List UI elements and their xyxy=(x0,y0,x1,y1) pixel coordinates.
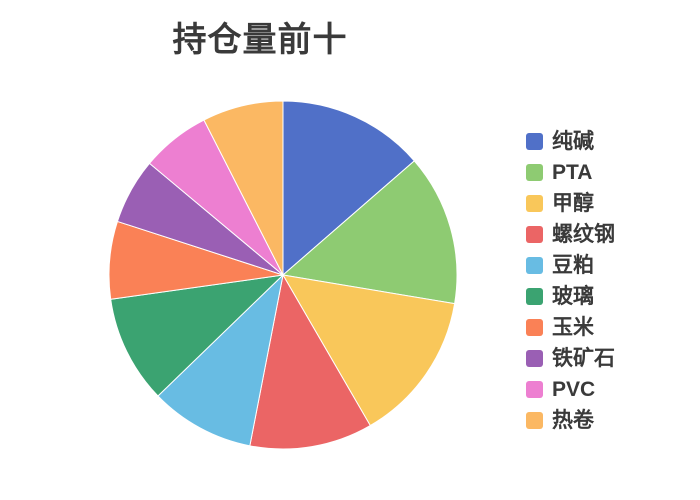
legend-item-label: 纯碱 xyxy=(552,130,594,153)
legend-swatch-icon xyxy=(526,133,543,150)
legend-item[interactable]: PVC xyxy=(526,374,696,405)
legend-item-label: 甲醇 xyxy=(552,192,594,215)
legend: 纯碱PTA甲醇螺纹钢豆粕玻璃玉米铁矿石PVC热卷 xyxy=(526,126,696,436)
legend-item-label: 玉米 xyxy=(552,316,594,339)
legend-item[interactable]: 热卷 xyxy=(526,405,696,436)
legend-item[interactable]: 豆粕 xyxy=(526,250,696,281)
legend-swatch-icon xyxy=(526,288,543,305)
legend-item-label: 热卷 xyxy=(552,409,594,432)
pie-plot-area xyxy=(108,100,458,450)
legend-swatch-icon xyxy=(526,164,543,181)
legend-item[interactable]: 玻璃 xyxy=(526,281,696,312)
legend-item[interactable]: 铁矿石 xyxy=(526,343,696,374)
legend-item[interactable]: 纯碱 xyxy=(526,126,696,157)
legend-item[interactable]: 螺纹钢 xyxy=(526,219,696,250)
legend-item-label: 豆粕 xyxy=(552,254,594,277)
legend-swatch-icon xyxy=(526,195,543,212)
legend-item-label: PVC xyxy=(552,378,595,401)
legend-swatch-icon xyxy=(526,226,543,243)
legend-swatch-icon xyxy=(526,319,543,336)
legend-item-label: PTA xyxy=(552,161,592,184)
legend-item-label: 玻璃 xyxy=(552,285,594,308)
page-title: 持仓量前十 xyxy=(0,18,520,62)
legend-item[interactable]: 甲醇 xyxy=(526,188,696,219)
legend-item[interactable]: 玉米 xyxy=(526,312,696,343)
pie-svg xyxy=(108,100,458,450)
legend-swatch-icon xyxy=(526,350,543,367)
legend-item-label: 铁矿石 xyxy=(552,347,615,370)
pie-chart-figure: 持仓量前十 纯碱PTA甲醇螺纹钢豆粕玻璃玉米铁矿石PVC热卷 xyxy=(0,0,700,500)
legend-swatch-icon xyxy=(526,381,543,398)
legend-swatch-icon xyxy=(526,412,543,429)
legend-swatch-icon xyxy=(526,257,543,274)
legend-item[interactable]: PTA xyxy=(526,157,696,188)
legend-item-label: 螺纹钢 xyxy=(552,223,615,246)
